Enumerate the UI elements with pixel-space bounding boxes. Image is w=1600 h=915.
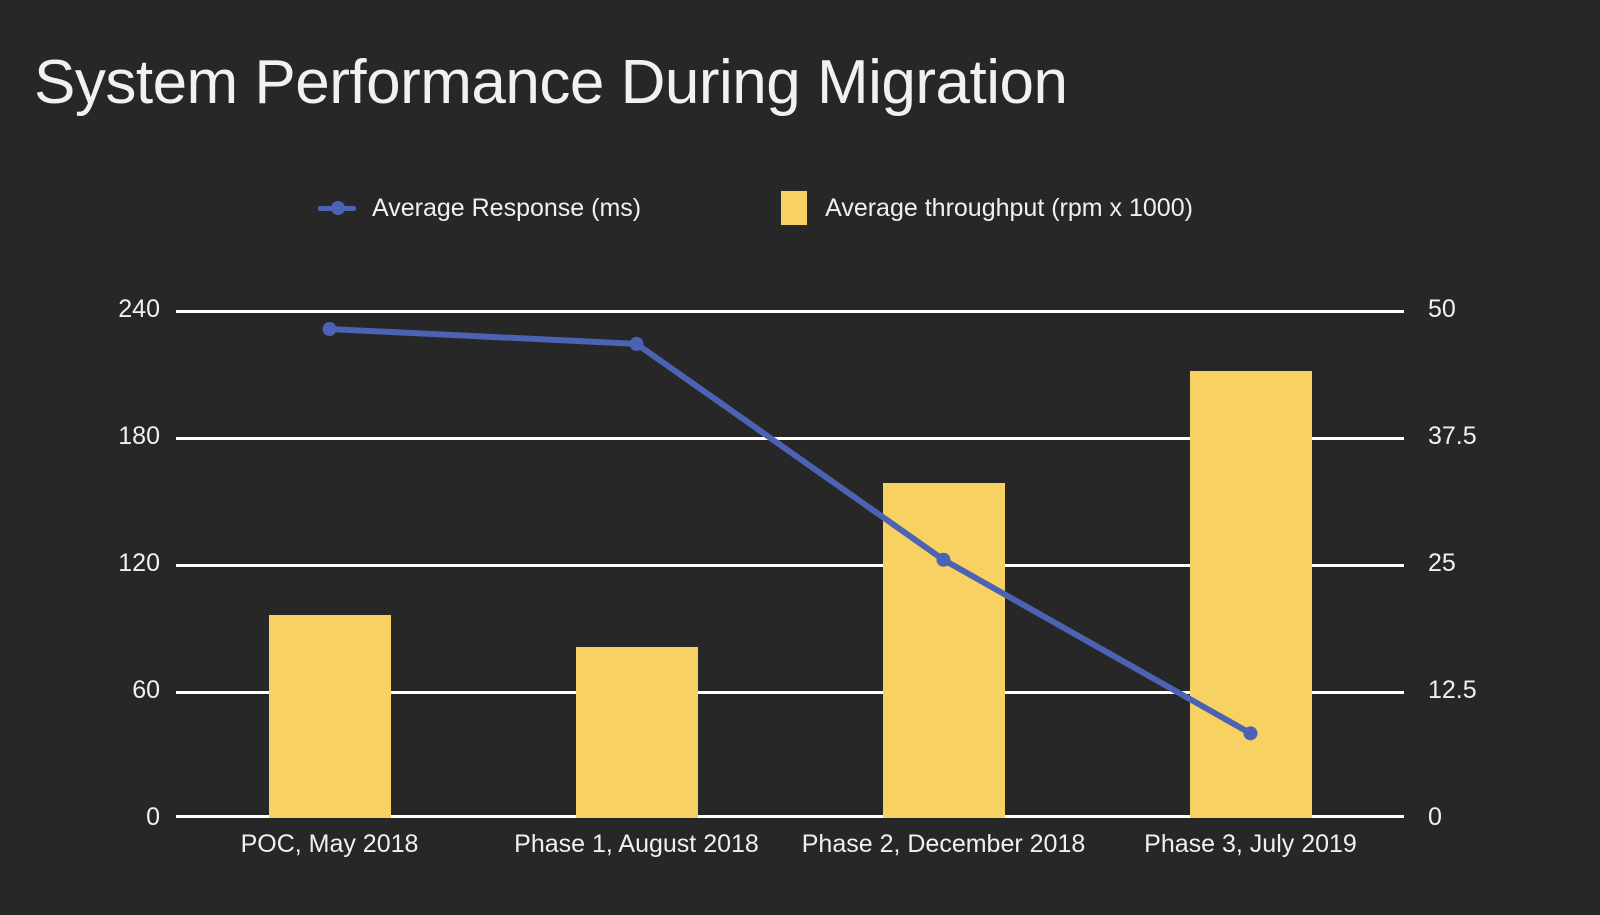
y-axis-left-tick-180: 180 xyxy=(118,424,160,449)
y-axis-left-tick-120: 120 xyxy=(118,551,160,576)
square-marker-icon xyxy=(781,191,807,225)
y-axis-right-tick-0: 0 xyxy=(1428,805,1442,830)
x-axis-label-2: Phase 2, December 2018 xyxy=(802,832,1086,857)
plot-area: 240 180 120 60 0 50 37.5 25 12.5 0 xyxy=(176,310,1404,818)
y-axis-right-tick-37-5: 37.5 xyxy=(1428,424,1477,449)
line-series xyxy=(176,310,1404,818)
x-axis-labels: POC, May 2018Phase 1, August 2018Phase 2… xyxy=(176,832,1404,872)
y-axis-left-tick-0: 0 xyxy=(146,805,160,830)
y-axis-right-tick-12-5: 12.5 xyxy=(1428,678,1477,703)
legend-item-average-throughput[interactable]: Average throughput (rpm x 1000) xyxy=(781,190,1193,226)
chart-title: System Performance During Migration xyxy=(34,52,1067,114)
x-axis-label-1: Phase 1, August 2018 xyxy=(514,832,759,857)
line-point-3[interactable] xyxy=(1244,726,1258,740)
x-axis-label-3: Phase 3, July 2019 xyxy=(1144,832,1357,857)
line-point-2[interactable] xyxy=(937,553,951,567)
legend-label-average-response: Average Response (ms) xyxy=(372,196,641,221)
y-axis-right-tick-50: 50 xyxy=(1428,297,1456,322)
chart-container: System Performance During Migration Aver… xyxy=(0,0,1600,915)
legend-item-average-response[interactable]: Average Response (ms) xyxy=(318,190,641,226)
line-point-0[interactable] xyxy=(323,322,337,336)
y-axis-left-tick-60: 60 xyxy=(132,678,160,703)
legend-label-average-throughput: Average throughput (rpm x 1000) xyxy=(825,196,1193,221)
y-axis-left-tick-240: 240 xyxy=(118,297,160,322)
line-marker-icon xyxy=(318,200,356,216)
chart-legend: Average Response (ms) Average throughput… xyxy=(318,190,1193,226)
line-point-1[interactable] xyxy=(630,337,644,351)
x-axis-label-0: POC, May 2018 xyxy=(241,832,419,857)
line-path xyxy=(330,329,1251,733)
y-axis-right-tick-25: 25 xyxy=(1428,551,1456,576)
